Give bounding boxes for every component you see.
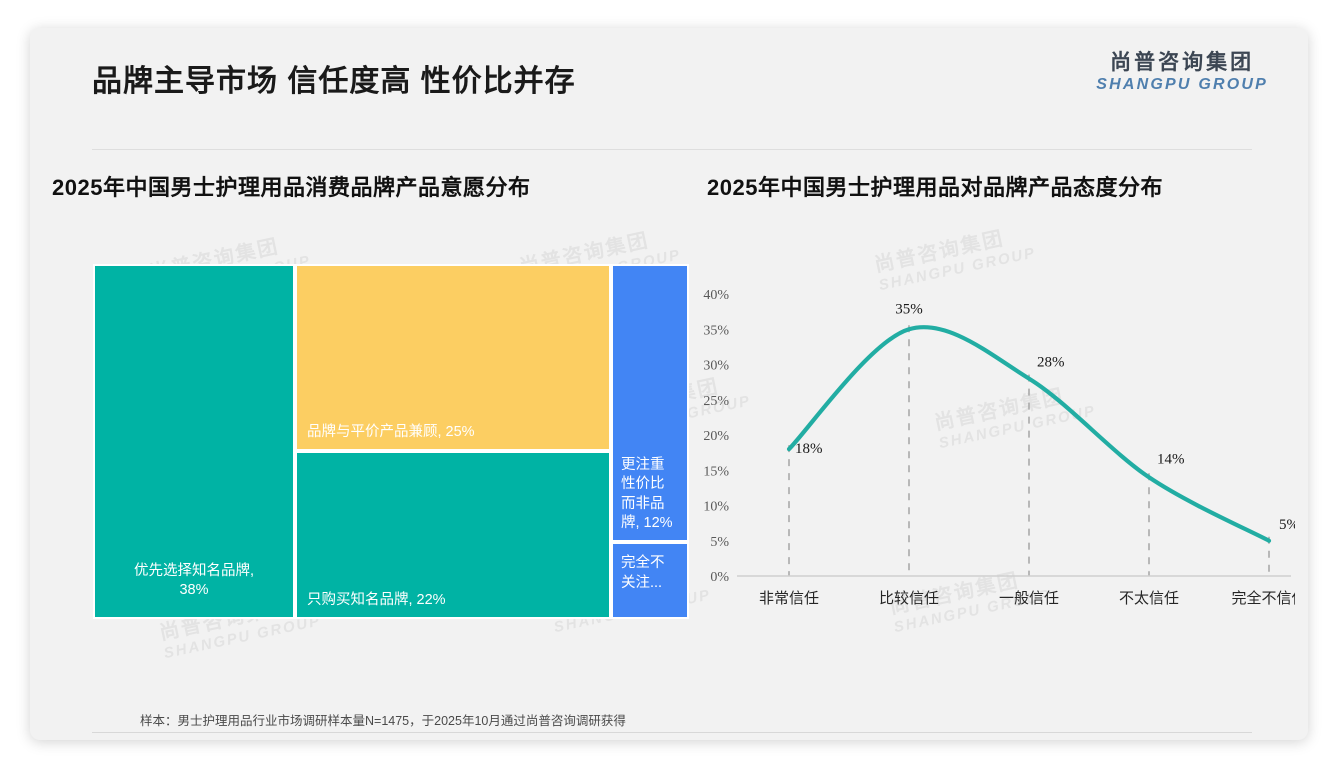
data-point-label: 18%: [795, 441, 823, 457]
treemap-tile-label: 只购买知名品牌, 22%: [307, 591, 603, 611]
x-tick-label: 比较信任: [879, 589, 939, 607]
logo-text-cn: 尚普咨询集团: [1096, 52, 1268, 73]
right-chart-title: 2025年中国男士护理用品对品牌产品态度分布: [707, 170, 1163, 202]
data-point-label: 14%: [1157, 451, 1185, 467]
left-chart-title: 2025年中国男士护理用品消费品牌产品意愿分布: [52, 170, 530, 202]
slide-header: 品牌主导市场 信任度高 性价比并存 尚普咨询集团 SHANGPU GROUP: [30, 28, 1308, 120]
data-point-label: 5%: [1279, 517, 1295, 533]
x-tick-label: 一般信任: [999, 590, 1059, 607]
treemap-tile-label: 更注重 性价比 而非品 牌, 12%: [621, 456, 683, 534]
y-axis-tick-labels: 0%5%10%15%20%25%30%35%40%: [703, 288, 729, 585]
data-point-labels: 18%35%28%14%5%: [795, 301, 1295, 533]
treemap-tile-label: 优先选择知名品牌, 38%: [101, 562, 287, 601]
y-tick-label: 15%: [703, 464, 729, 479]
treemap-tile-label: 完全不 关注...: [621, 554, 683, 593]
treemap-tile-label: 品牌与平价产品兼顾, 25%: [307, 423, 603, 443]
brand-logo: 尚普咨询集团 SHANGPU GROUP: [1096, 52, 1268, 93]
x-tick-label: 非常信任: [759, 590, 819, 607]
y-tick-label: 40%: [703, 288, 729, 303]
treemap-chart: 优先选择知名品牌, 38% 品牌与平价产品兼顾, 25% 只购买知名品牌, 22…: [93, 264, 611, 619]
sample-note: 样本：男士护理用品行业市场调研样本量N=1475，于2025年10月通过尚普咨询…: [140, 710, 626, 729]
data-point-label: 28%: [1037, 355, 1065, 371]
line-chart: 0%5%10%15%20%25%30%35%40% 非常信任比较信任一般信任不太…: [675, 276, 1295, 621]
y-tick-label: 5%: [710, 535, 729, 550]
page-title: 品牌主导市场 信任度高 性价比并存: [92, 56, 576, 100]
y-tick-label: 10%: [703, 500, 729, 515]
y-tick-label: 35%: [703, 323, 729, 338]
line-chart-svg: 0%5%10%15%20%25%30%35%40% 非常信任比较信任一般信任不太…: [675, 276, 1295, 621]
slide-card: 品牌主导市场 信任度高 性价比并存 尚普咨询集团 SHANGPU GROUP 尚…: [30, 28, 1308, 740]
y-tick-label: 0%: [710, 570, 729, 585]
treemap-tile-brand-and-value[interactable]: 品牌与平价产品兼顾, 25%: [295, 264, 611, 451]
logo-text-en: SHANGPU GROUP: [1096, 77, 1268, 93]
x-axis-tick-labels: 非常信任比较信任一般信任不太信任完全不信任: [759, 589, 1295, 607]
treemap-tile-only-famous-brand[interactable]: 只购买知名品牌, 22%: [295, 451, 611, 619]
y-tick-label: 30%: [703, 359, 729, 374]
footer-divider: [92, 732, 1252, 733]
y-tick-label: 20%: [703, 429, 729, 444]
treemap-tile-priority-brand[interactable]: 优先选择知名品牌, 38%: [93, 264, 295, 619]
header-divider: [92, 149, 1252, 150]
y-tick-label: 25%: [703, 394, 729, 409]
x-tick-label: 不太信任: [1119, 590, 1179, 607]
data-point-label: 35%: [895, 301, 923, 317]
x-tick-label: 完全不信任: [1231, 589, 1295, 607]
